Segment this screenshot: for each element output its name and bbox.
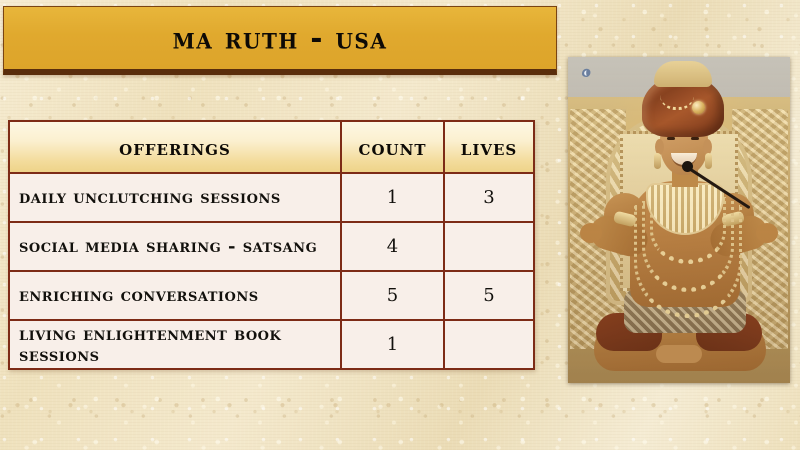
cell-offering: enriching conversations <box>9 271 341 320</box>
dove-icon <box>578 65 594 81</box>
cell-offering: social media sharing - satsang <box>9 222 341 271</box>
table-row: living enlightenment book sessions 1 <box>9 320 534 369</box>
slide-canvas: ma ruth - usa offerings count lives dail… <box>0 0 800 450</box>
title-banner: ma ruth - usa <box>3 6 557 75</box>
cell-lives <box>444 222 534 271</box>
cell-lives <box>444 320 534 369</box>
table-row: enriching conversations 5 5 <box>9 271 534 320</box>
column-header-offerings: offerings <box>9 121 341 173</box>
table-header-row: offerings count lives <box>9 121 534 173</box>
guru-photo <box>568 57 790 383</box>
cell-count: 4 <box>341 222 444 271</box>
table-header: offerings count lives <box>9 121 534 173</box>
table-row: social media sharing - satsang 4 <box>9 222 534 271</box>
page-title: ma ruth - usa <box>173 23 388 54</box>
cell-count: 1 <box>341 320 444 369</box>
table-row: daily unclutching sessions 1 3 <box>9 173 534 222</box>
table-body: daily unclutching sessions 1 3 social me… <box>9 173 534 369</box>
cell-count: 1 <box>341 173 444 222</box>
column-header-count: count <box>341 121 444 173</box>
cell-lives: 5 <box>444 271 534 320</box>
cell-count: 5 <box>341 271 444 320</box>
column-header-lives: lives <box>444 121 534 173</box>
cell-lives: 3 <box>444 173 534 222</box>
photo-sepia-wash <box>568 57 790 383</box>
cell-offering: daily unclutching sessions <box>9 173 341 222</box>
offerings-table: offerings count lives daily unclutching … <box>8 120 535 370</box>
cell-offering: living enlightenment book sessions <box>9 320 341 369</box>
